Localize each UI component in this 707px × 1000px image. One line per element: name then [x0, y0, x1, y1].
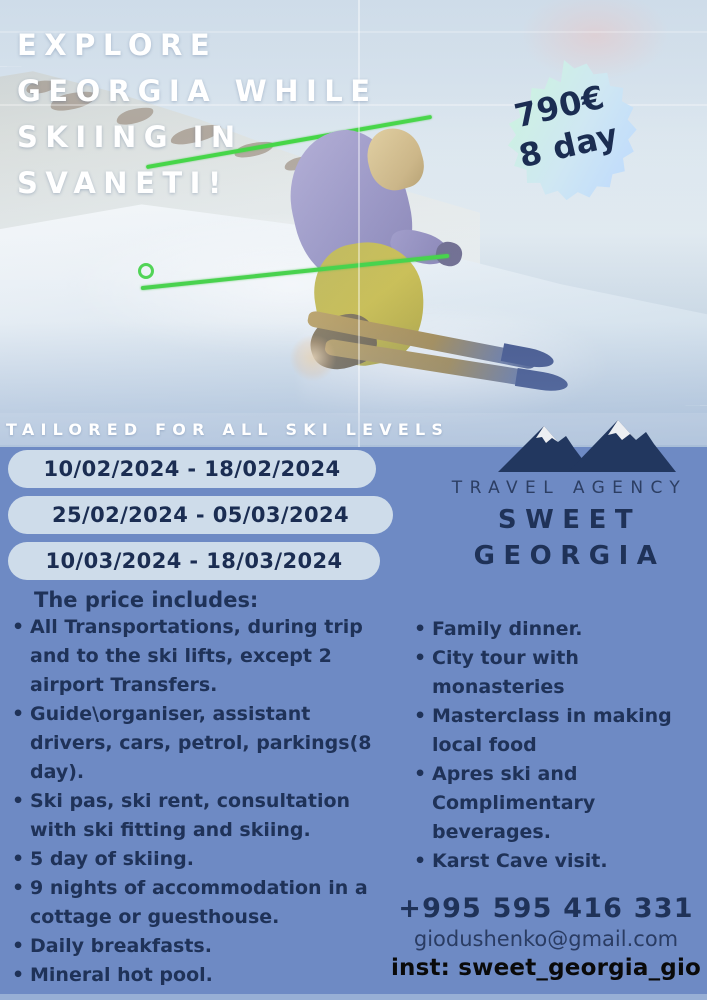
logo-name-line-2: GEORGIA	[432, 541, 707, 571]
includes-title: The price includes:	[34, 588, 394, 612]
logo-name-line-1: SWEET	[432, 505, 707, 535]
list-item: City tour with monasteries	[408, 644, 704, 702]
headline-line-1: EXPLORE	[17, 22, 487, 68]
logo-agency-label: TRAVEL AGENCY	[432, 478, 707, 498]
ski-tour-poster: EXPLORE GEORGIA WHILE SKIING IN SVANETI!…	[0, 0, 707, 1000]
list-item: Mineral hot pool.	[8, 961, 394, 990]
contact-phone[interactable]: +995 595 416 331	[390, 893, 702, 925]
list-item: Masterclass in making local food	[408, 702, 704, 760]
list-item: Family dinner.	[408, 615, 704, 644]
contact-instagram[interactable]: inst: sweet_georgia_gio	[390, 953, 702, 983]
agency-logo: TRAVEL AGENCY SWEET GEORGIA	[432, 418, 707, 571]
date-pill[interactable]: 25/02/2024 - 05/03/2024	[8, 496, 393, 534]
includes-right-column: Family dinner. City tour with monasterie…	[408, 615, 704, 876]
list-item: Apres ski and Complimentary beverages.	[408, 760, 704, 847]
mountain-icon	[440, 418, 700, 476]
includes-left-list: All Transportations, during trip and to …	[8, 613, 394, 990]
headline-line-2: GEORGIA WHILE	[17, 68, 487, 114]
bottom-strip	[0, 994, 707, 1000]
departure-dates-list: 10/02/2024 - 18/02/2024 25/02/2024 - 05/…	[8, 450, 393, 588]
list-item: 9 nights of accommodation in a cottage o…	[8, 874, 394, 932]
lens-flare	[290, 335, 336, 381]
poster-headline: EXPLORE GEORGIA WHILE SKIING IN SVANETI!	[17, 22, 487, 206]
headline-line-3: SKIING IN	[17, 114, 487, 160]
includes-right-list: Family dinner. City tour with monasterie…	[408, 615, 704, 876]
date-pill[interactable]: 10/03/2024 - 18/03/2024	[8, 542, 380, 580]
list-item: Guide\organiser, assistant drivers, cars…	[8, 700, 394, 787]
list-item: Ski pas, ski rent, consultation with ski…	[8, 787, 394, 845]
tailored-banner-text: TAILORED FOR ALL SKI LEVELS	[0, 420, 449, 439]
list-item: Daily breakfasts.	[8, 932, 394, 961]
date-pill[interactable]: 10/02/2024 - 18/02/2024	[8, 450, 376, 488]
contact-email[interactable]: giodushenko@gmail.com	[390, 925, 702, 953]
price-badge-text: 790€ 8 day	[477, 69, 651, 183]
price-badge: 790€ 8 day	[484, 60, 644, 220]
list-item: All Transportations, during trip and to …	[8, 613, 394, 700]
contact-block: +995 595 416 331 giodushenko@gmail.com i…	[390, 893, 702, 983]
ski-pole-basket	[138, 263, 154, 279]
includes-left-column: The price includes: All Transportations,…	[8, 588, 394, 990]
list-item: 5 day of skiing.	[8, 845, 394, 874]
headline-line-4: SVANETI!	[17, 160, 487, 206]
list-item: Karst Cave visit.	[408, 847, 704, 876]
